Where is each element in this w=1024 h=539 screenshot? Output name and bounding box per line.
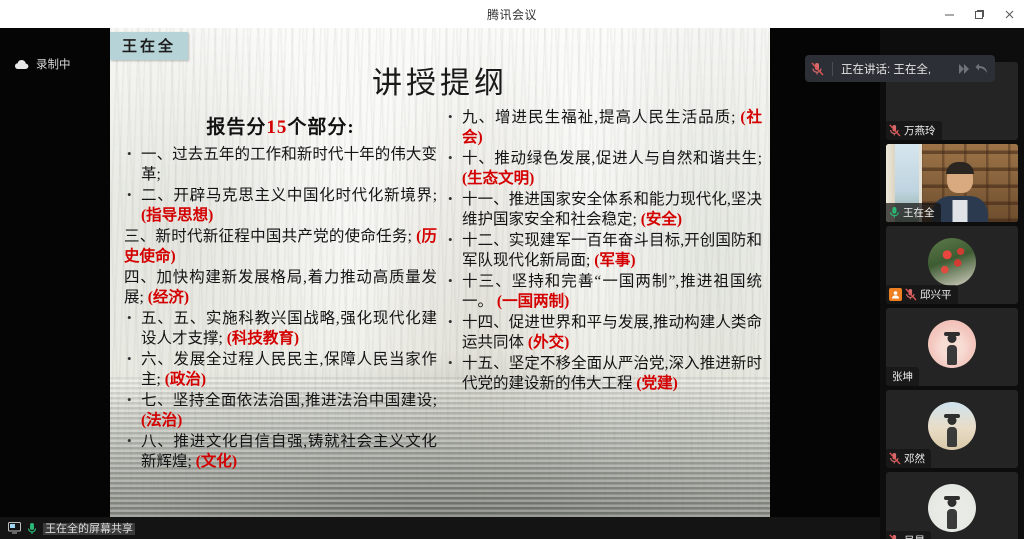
slide-presenter-nametag: 王在全 <box>110 32 188 60</box>
outline-item-text: 十四、促进世界和平与发展,推动构建人类命运共同体 <box>462 314 762 351</box>
outline-item-tag: (经济) <box>148 289 189 306</box>
avatar-figure-head <box>948 416 957 425</box>
outline-item-tag: (生态文明) <box>462 170 534 187</box>
section-heading-number: 15 <box>266 117 287 138</box>
participant-name: 王在全 <box>903 205 935 220</box>
avatar-figure-body <box>947 345 957 365</box>
active-speaker-banner[interactable]: 正在讲话: 王在全, <box>805 55 995 82</box>
outline-item-tag: (文化) <box>196 453 237 470</box>
participant-rail[interactable]: 万燕玲王在全邱兴平张坤邓然吴昊 <box>880 28 1024 539</box>
banner-actions[interactable] <box>956 62 989 76</box>
minimize-icon[interactable] <box>934 0 964 28</box>
outline-item: 六、发展全过程人民民主,保障人民当家作主; (政治) <box>124 350 437 389</box>
outline-item-tag: (安全) <box>641 211 682 228</box>
mic-muted-icon <box>889 124 901 137</box>
mic-on-icon <box>889 206 900 219</box>
outline-item: 十三、坚持和完善“一国两制”,推进祖国统一。 (一国两制) <box>445 272 762 311</box>
outline-item-tag: (政治) <box>165 371 206 388</box>
screen-share-label: 王在全的屏幕共享 <box>43 520 135 536</box>
outline-item: 一、过去五年的工作和新时代十年的伟大变革; <box>124 145 437 184</box>
host-person-icon <box>891 290 900 299</box>
outline-item-text: 十、推动绿色发展,促进人与自然和谐共生; <box>462 150 762 167</box>
participant-tile[interactable]: 邓然 <box>886 390 1018 468</box>
outline-item: 十二、实现建军一百年奋斗目标,开创国防和军队现代化新局面; (军事) <box>445 231 762 270</box>
outline-item-tag: (一国两制) <box>497 293 569 310</box>
mic-muted-icon <box>889 534 901 539</box>
outline-list-left: 一、过去五年的工作和新时代十年的伟大变革;二、开辟马克思主义中国化时代化新境界;… <box>124 145 437 471</box>
participant-name-chip: 万燕玲 <box>886 121 942 140</box>
outline-item: 九、增进民生福祉,提高人民生活品质; (社会) <box>445 108 762 147</box>
recording-label: 录制中 <box>36 56 71 72</box>
outline-item-tag: (党建) <box>636 375 677 392</box>
participant-tile[interactable]: 吴昊 <box>886 472 1018 539</box>
slide-title: 讲授提纲 <box>110 28 770 102</box>
close-glyph <box>1004 9 1015 20</box>
presentation-slide: 王在全 讲授提纲 报告分15个部分: 一、过去五年的工作和新时代十年的伟大变革;… <box>110 28 770 527</box>
collapse-arrows-icon[interactable] <box>956 62 973 76</box>
outline-item: 二、开辟马克思主义中国化时代化新境界; (指导思想) <box>124 186 437 225</box>
avatar-figure-head <box>948 498 957 507</box>
outline-item-text: 八、推进文化自信自强,铸就社会主义文化新辉煌; <box>141 433 437 470</box>
outline-item-text: 二、开辟马克思主义中国化时代化新境界; <box>141 187 437 204</box>
outline-item: 十一、推进国家安全体系和能力现代化,坚决维护国家安全和社会稳定; (安全) <box>445 190 762 229</box>
shared-screen-stage: 录制中 王在全 讲授提纲 报告分15个部分: 一、过去五年的工作和新时代十年的伟… <box>0 28 880 539</box>
participant-tile[interactable]: 邱兴平 <box>886 226 1018 304</box>
maximize-icon[interactable] <box>964 0 994 28</box>
slide-section-heading: 报告分15个部分: <box>124 108 437 145</box>
participant-avatar <box>928 402 976 450</box>
avatar-figure-body <box>947 427 957 447</box>
outline-item-tag: (军事) <box>594 252 635 269</box>
outline-item-tag: (指导思想) <box>141 207 213 224</box>
cloud-icon <box>14 59 29 70</box>
outline-item: 五、五、实施科教兴国战略,强化现代化建设人才支撑; (科技教育) <box>124 309 437 348</box>
outline-item-text: 三、新时代新征程中国共产党的使命任务; <box>124 228 412 245</box>
window-titlebar: 腾讯会议 <box>0 0 1024 28</box>
participant-name-chip: 王在全 <box>886 203 941 222</box>
outline-item: 七、坚持全面依法治国,推进法治中国建设; (法治) <box>124 391 437 430</box>
slide-column-right: 九、增进民生福祉,提高人民生活品质; (社会)十、推动绿色发展,促进人与自然和谐… <box>443 108 762 473</box>
participant-name: 万燕玲 <box>904 123 936 138</box>
participant-name-chip: 邓然 <box>886 449 931 468</box>
mic-muted-icon <box>889 452 901 465</box>
outline-item-text: 一、过去五年的工作和新时代十年的伟大变革; <box>141 146 437 183</box>
window-controls <box>934 0 1024 28</box>
outline-item: 十五、坚定不移全面从严治党,深入推进新时代党的建设新的伟大工程 (党建) <box>445 354 762 393</box>
outline-item-text: 七、坚持全面依法治国,推进法治中国建设; <box>141 392 437 409</box>
outline-list-right: 九、增进民生福祉,提高人民生活品质; (社会)十、推动绿色发展,促进人与自然和谐… <box>445 108 762 393</box>
participant-avatar <box>928 320 976 368</box>
participant-name: 邱兴平 <box>920 287 952 302</box>
outline-item-tag: (法治) <box>141 412 182 429</box>
banner-divider <box>832 62 833 76</box>
close-icon[interactable] <box>994 0 1024 28</box>
outline-item-tag: (外交) <box>528 334 569 351</box>
minimize-glyph <box>944 9 955 20</box>
screen-share-statusbar: 王在全的屏幕共享 <box>0 517 880 539</box>
outline-item: 十、推动绿色发展,促进人与自然和谐共生; (生态文明) <box>445 149 762 188</box>
outline-item-tag: (科技教育) <box>227 330 299 347</box>
participant-avatar <box>928 484 976 532</box>
outline-item: 八、推进文化自信自强,铸就社会主义文化新辉煌; (文化) <box>124 432 437 471</box>
person-shirt <box>952 200 967 222</box>
participant-name-chip: 邱兴平 <box>886 285 958 304</box>
slide-column-left: 报告分15个部分: 一、过去五年的工作和新时代十年的伟大变革;二、开辟马克思主义… <box>118 108 437 473</box>
outline-item: 四、加快构建新发展格局,着力推动高质量发展; (经济) <box>124 268 437 307</box>
slide-columns: 报告分15个部分: 一、过去五年的工作和新时代十年的伟大变革;二、开辟马克思主义… <box>110 102 770 473</box>
recording-indicator: 录制中 <box>14 56 71 72</box>
active-speaker-label: 正在讲话: 王在全, <box>841 61 931 77</box>
mic-muted-icon <box>905 288 917 301</box>
outline-item-text: 十五、坚定不移全面从严治党,深入推进新时代党的建设新的伟大工程 <box>462 355 762 392</box>
participant-tile[interactable]: 张坤 <box>886 308 1018 386</box>
outline-item-text: 十一、推进国家安全体系和能力现代化,坚决维护国家安全和社会稳定; <box>462 191 762 228</box>
participant-name: 吴昊 <box>904 533 925 539</box>
avatar-figure-body <box>947 509 957 529</box>
back-arrow-icon[interactable] <box>975 62 989 76</box>
host-badge <box>889 288 902 301</box>
participant-tile[interactable]: 王在全 <box>886 144 1018 222</box>
participant-avatar <box>928 238 976 286</box>
participant-name-chip: 张坤 <box>886 367 919 386</box>
maximize-glyph <box>974 9 985 20</box>
section-heading-prefix: 报告分 <box>206 117 266 138</box>
avatar-figure-head <box>948 334 957 343</box>
participant-name: 邓然 <box>904 451 925 466</box>
participant-name: 张坤 <box>892 369 913 384</box>
mic-muted-icon <box>811 62 824 76</box>
outline-item-text: 九、增进民生福祉,提高人民生活品质; <box>462 109 735 126</box>
section-heading-suffix: 个部分: <box>287 117 354 138</box>
mic-on-icon <box>27 522 37 535</box>
monitor-icon <box>8 522 21 534</box>
participant-name-chip: 吴昊 <box>886 531 931 539</box>
outline-item: 十四、促进世界和平与发展,推动构建人类命运共同体 (外交) <box>445 313 762 352</box>
outline-item: 三、新时代新征程中国共产党的使命任务; (历史使命) <box>124 227 437 266</box>
window-title: 腾讯会议 <box>487 6 537 23</box>
